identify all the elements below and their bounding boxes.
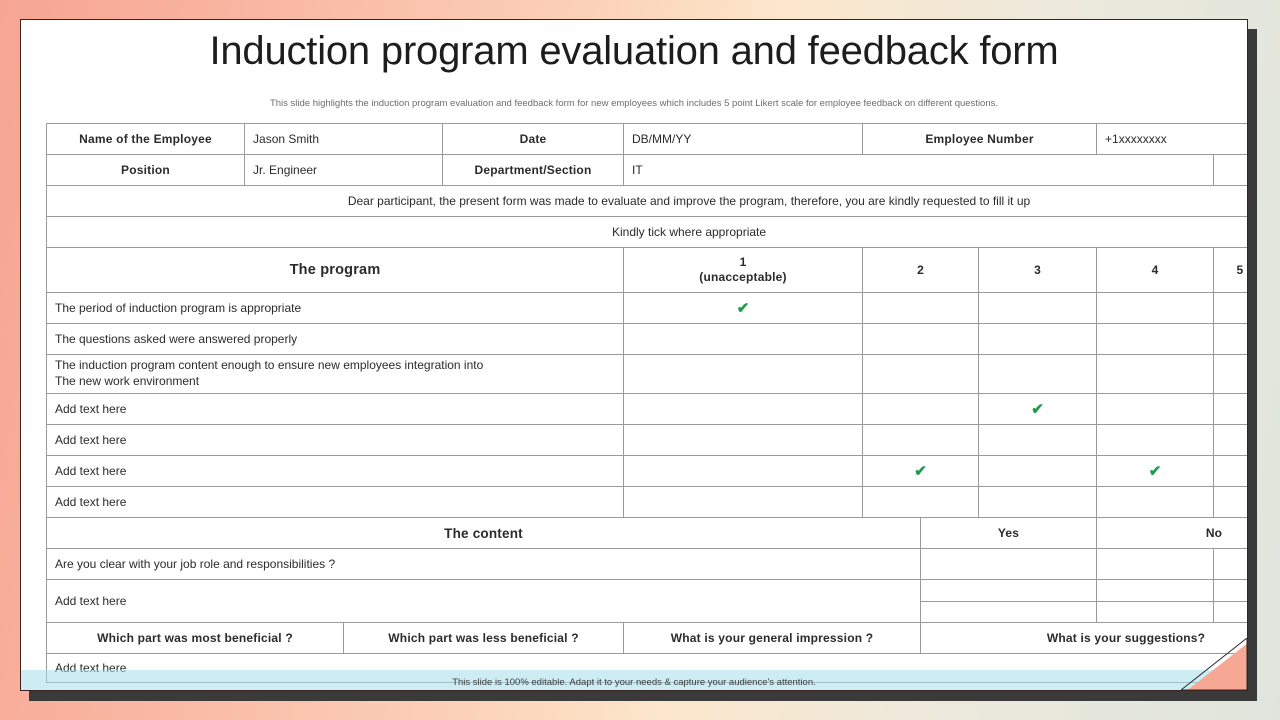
triangle-icon bbox=[1181, 638, 1247, 690]
evaluation-form-table: Name of the Employee Jason Smith Date DB… bbox=[46, 123, 1248, 683]
program-cell-scale-5[interactable] bbox=[1214, 324, 1248, 355]
table-row-position: Position Jr. Engineer Department/Section… bbox=[47, 155, 1249, 186]
table-row-program-question: Add text here bbox=[47, 487, 1249, 518]
check-icon: ✔ bbox=[737, 300, 750, 317]
program-cell-scale-3[interactable] bbox=[979, 324, 1097, 355]
program-cell-scale-1[interactable] bbox=[624, 394, 863, 425]
content-header-yes: Yes bbox=[921, 518, 1097, 549]
check-icon: ✔ bbox=[1149, 463, 1162, 480]
label-position: Position bbox=[47, 155, 245, 186]
program-question-line-2: The new work environment bbox=[55, 374, 199, 388]
program-cell-scale-3[interactable] bbox=[979, 487, 1097, 518]
program-cell-scale-2[interactable] bbox=[863, 394, 979, 425]
open-question-header-less-beneficial: Which part was less beneficial ? bbox=[344, 623, 624, 654]
open-question-header-general-impression: What is your general impression ? bbox=[624, 623, 921, 654]
program-cell-scale-5[interactable] bbox=[1214, 355, 1248, 394]
value-department[interactable]: IT bbox=[624, 155, 1214, 186]
program-cell-scale-2[interactable] bbox=[863, 324, 979, 355]
program-cell-scale-4[interactable] bbox=[1097, 425, 1214, 456]
program-section-title: The program bbox=[47, 248, 624, 293]
program-question-text[interactable]: Add text here bbox=[47, 425, 624, 456]
scale-header-1-number: 1 bbox=[740, 255, 747, 269]
table-row-program-question: Add text here ✔ ✔ bbox=[47, 456, 1249, 487]
program-cell-scale-1[interactable] bbox=[624, 487, 863, 518]
content-cell-no-extra[interactable] bbox=[1214, 549, 1248, 580]
table-row-instruction-2: Kindly tick where appropriate bbox=[47, 217, 1249, 248]
table-row-program-question: The induction program content enough to … bbox=[47, 355, 1249, 394]
label-date: Date bbox=[443, 124, 624, 155]
table-row-employee-name: Name of the Employee Jason Smith Date DB… bbox=[47, 124, 1249, 155]
footer-note: This slide is 100% editable. Adapt it to… bbox=[21, 677, 1247, 688]
program-cell-scale-5[interactable] bbox=[1214, 487, 1248, 518]
scale-header-3: 3 bbox=[979, 248, 1097, 293]
program-question-text[interactable]: The induction program content enough to … bbox=[47, 355, 624, 394]
program-cell-scale-5[interactable]: ✔ bbox=[1214, 293, 1248, 324]
table-row-instruction-1: Dear participant, the present form was m… bbox=[47, 186, 1249, 217]
program-question-line-1: The induction program content enough to … bbox=[55, 358, 483, 372]
content-question-text[interactable]: Add text here bbox=[47, 580, 921, 623]
value-employee-number[interactable]: +1xxxxxxxx bbox=[1097, 124, 1248, 155]
program-cell-scale-2[interactable] bbox=[863, 355, 979, 394]
page-subtitle: This slide highlights the induction prog… bbox=[21, 98, 1247, 109]
open-question-header-most-beneficial: Which part was most beneficial ? bbox=[47, 623, 344, 654]
program-cell-scale-4[interactable] bbox=[1097, 293, 1214, 324]
content-section-title: The content bbox=[47, 518, 921, 549]
program-question-text[interactable]: Add text here bbox=[47, 456, 624, 487]
content-header-no: No bbox=[1097, 518, 1248, 549]
program-cell-scale-4[interactable] bbox=[1097, 487, 1214, 518]
page-title: Induction program evaluation and feedbac… bbox=[21, 29, 1247, 74]
program-question-text[interactable]: Add text here bbox=[47, 487, 624, 518]
program-cell-scale-2[interactable]: ✔ bbox=[863, 456, 979, 487]
label-employee-number: Employee Number bbox=[863, 124, 1097, 155]
program-cell-scale-3[interactable] bbox=[979, 355, 1097, 394]
content-cell-yes[interactable] bbox=[921, 602, 1097, 623]
program-cell-scale-2[interactable] bbox=[863, 425, 979, 456]
content-cell-no-extra[interactable] bbox=[1214, 580, 1248, 602]
scale-header-4: 4 bbox=[1097, 248, 1214, 293]
program-question-text[interactable]: The period of induction program is appro… bbox=[47, 293, 624, 324]
table-row-content-question: Are you clear with your job role and res… bbox=[47, 549, 1249, 580]
instruction-text-secondary: Kindly tick where appropriate bbox=[47, 217, 1249, 248]
table-row-program-question: Add text here bbox=[47, 425, 1249, 456]
content-cell-no[interactable] bbox=[1097, 549, 1214, 580]
content-cell-no[interactable] bbox=[1097, 602, 1214, 623]
program-cell-scale-4[interactable] bbox=[1097, 355, 1214, 394]
value-employee-name[interactable]: Jason Smith bbox=[245, 124, 443, 155]
content-cell-no[interactable] bbox=[1097, 580, 1214, 602]
scale-header-2: 2 bbox=[863, 248, 979, 293]
program-cell-scale-3[interactable] bbox=[979, 456, 1097, 487]
program-cell-scale-4[interactable] bbox=[1097, 394, 1214, 425]
scale-header-5: 5 (excellent) bbox=[1214, 248, 1248, 293]
decorative-corner-triangle-outline bbox=[1181, 638, 1247, 690]
check-icon: ✔ bbox=[914, 463, 927, 480]
program-cell-scale-1[interactable] bbox=[624, 324, 863, 355]
program-question-text[interactable]: Add text here bbox=[47, 394, 624, 425]
program-cell-scale-5[interactable] bbox=[1214, 394, 1248, 425]
label-department: Department/Section bbox=[443, 155, 624, 186]
content-cell-no-extra[interactable] bbox=[1214, 602, 1248, 623]
program-cell-scale-5[interactable] bbox=[1214, 425, 1248, 456]
table-row-program-question: Add text here ✔ bbox=[47, 394, 1249, 425]
instruction-text-primary: Dear participant, the present form was m… bbox=[47, 186, 1249, 217]
content-cell-yes[interactable] bbox=[921, 549, 1097, 580]
content-cell-yes[interactable] bbox=[921, 580, 1097, 602]
table-row-content-question: Add text here bbox=[47, 580, 1249, 602]
program-cell-scale-4[interactable]: ✔ bbox=[1097, 456, 1214, 487]
check-icon: ✔ bbox=[1031, 401, 1044, 418]
slide-canvas: Induction program evaluation and feedbac… bbox=[20, 19, 1248, 691]
table-row-open-question-headers: Which part was most beneficial ? Which p… bbox=[47, 623, 1249, 654]
program-cell-scale-2[interactable] bbox=[863, 487, 979, 518]
scale-header-1-text: (unacceptable) bbox=[699, 270, 787, 284]
value-position[interactable]: Jr. Engineer bbox=[245, 155, 443, 186]
program-question-text[interactable]: The questions asked were answered proper… bbox=[47, 324, 624, 355]
value-date[interactable]: DB/MM/YY bbox=[624, 124, 863, 155]
program-cell-scale-3[interactable]: ✔ bbox=[979, 394, 1097, 425]
content-question-text[interactable]: Are you clear with your job role and res… bbox=[47, 549, 921, 580]
table-row-program-question: The period of induction program is appro… bbox=[47, 293, 1249, 324]
program-cell-scale-2[interactable] bbox=[863, 293, 979, 324]
program-cell-scale-1[interactable] bbox=[624, 456, 863, 487]
program-cell-scale-1[interactable] bbox=[624, 355, 863, 394]
program-cell-scale-3[interactable] bbox=[979, 425, 1097, 456]
label-employee-name: Name of the Employee bbox=[47, 124, 245, 155]
table-row-content-header: The content Yes No bbox=[47, 518, 1249, 549]
program-cell-scale-1[interactable]: ✔ bbox=[624, 293, 863, 324]
table-row-program-header: The program 1 (unacceptable) 2 3 4 5 (ex… bbox=[47, 248, 1249, 293]
program-cell-scale-3[interactable] bbox=[979, 293, 1097, 324]
table-row-program-question: The questions asked were answered proper… bbox=[47, 324, 1249, 355]
program-cell-scale-1[interactable] bbox=[624, 425, 863, 456]
program-cell-scale-5[interactable] bbox=[1214, 456, 1248, 487]
program-cell-scale-4[interactable] bbox=[1097, 324, 1214, 355]
